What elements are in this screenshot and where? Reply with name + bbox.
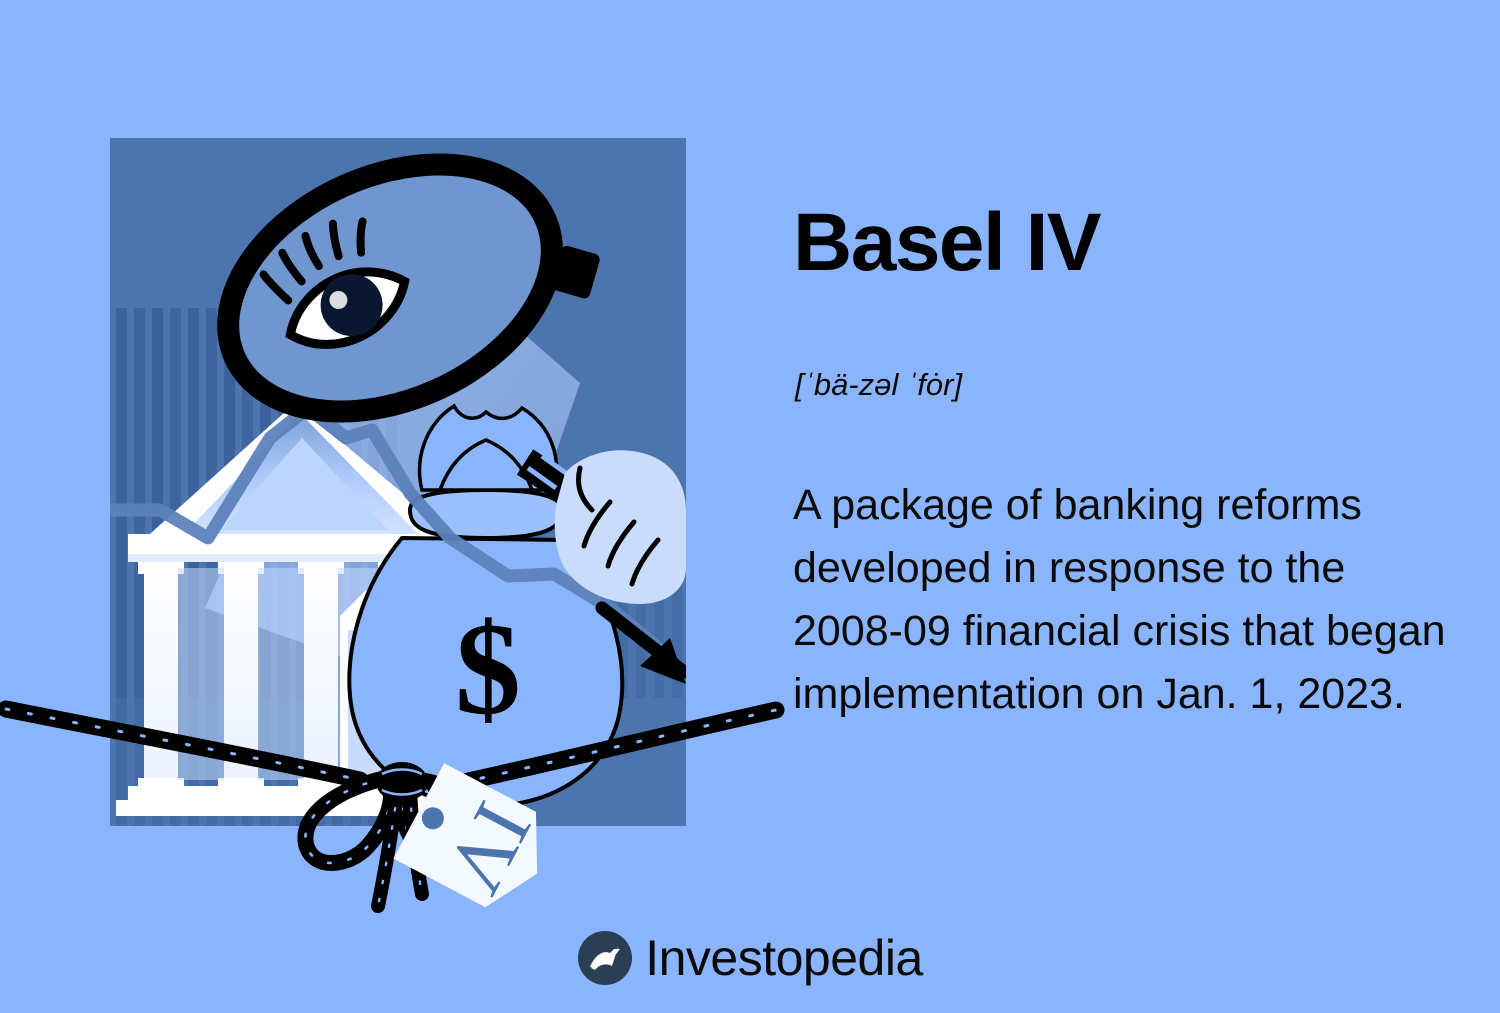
basel-iv-concept-illustration: $ <box>110 138 686 826</box>
definition-card: $ <box>0 0 1500 1013</box>
brand-footer: Investopedia <box>0 930 1500 986</box>
investopedia-bolt-icon <box>577 930 633 986</box>
brand-name: Investopedia <box>645 933 923 983</box>
definition-text: A package of banking reforms developed i… <box>793 474 1463 726</box>
pronunciation-text: [ˈbä-zəl ˈfȯr] <box>795 368 962 402</box>
page-title: Basel IV <box>793 200 1458 286</box>
illustration-container: $ <box>110 138 686 826</box>
term-text-column: Basel IV [ˈbä-zəl ˈfȯr] A package of ban… <box>793 200 1458 286</box>
dollar-sign: $ <box>455 595 521 742</box>
